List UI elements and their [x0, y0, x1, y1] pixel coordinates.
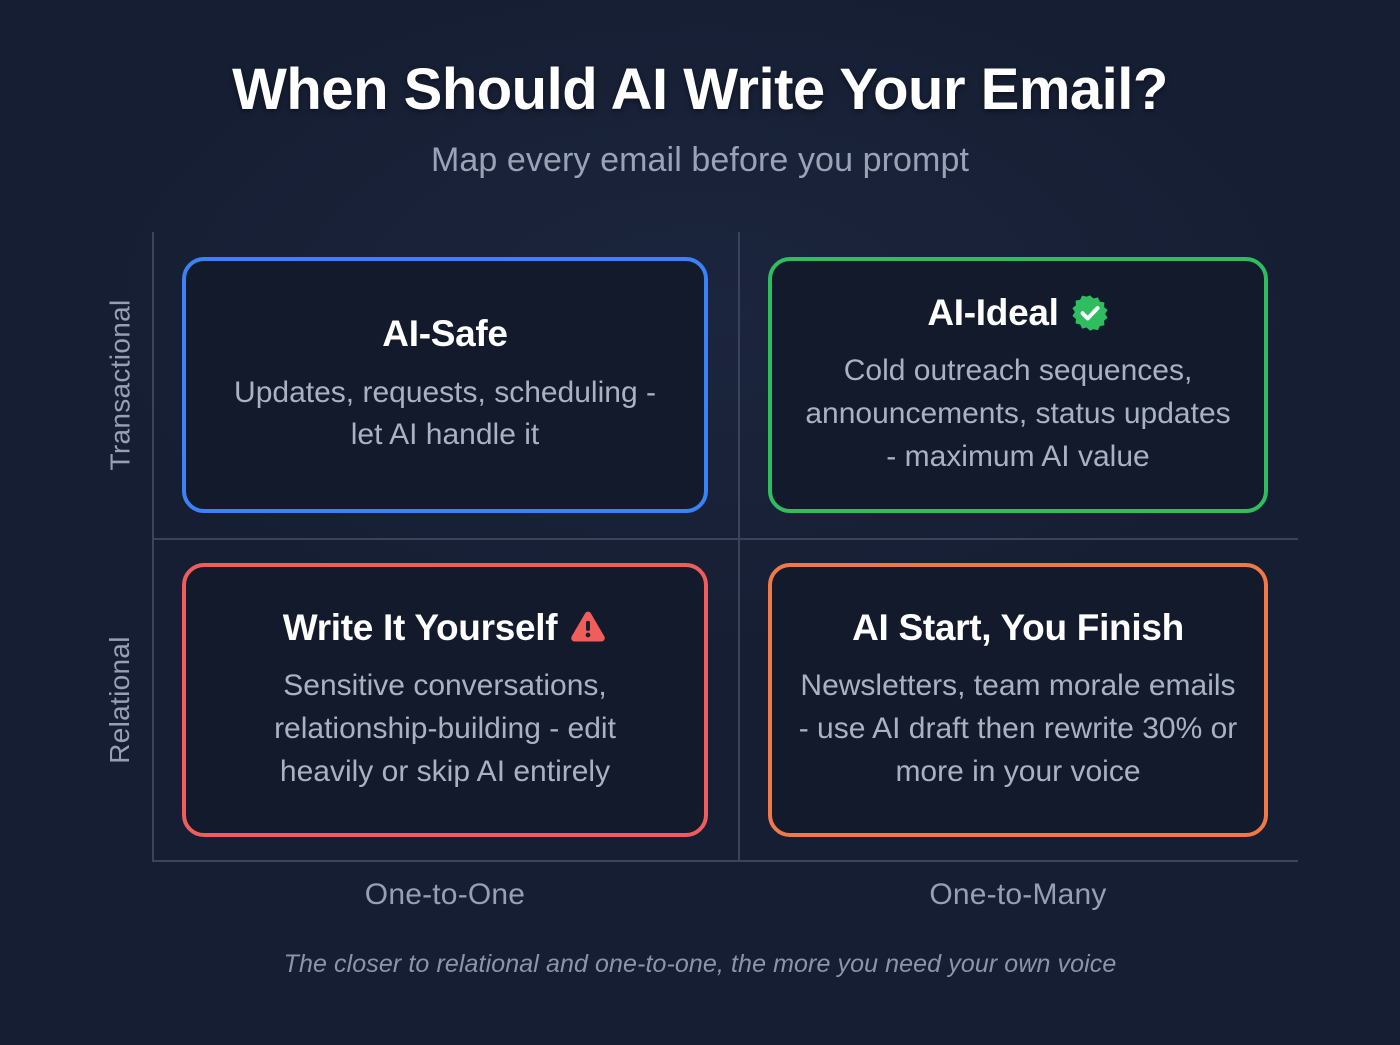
- quadrant-description-ai-safe: Updates, requests, scheduling - let AI h…: [230, 372, 660, 457]
- quadrant-description-ai-start-you-finish: Newsletters, team morale emails - use AI…: [798, 665, 1238, 793]
- quadrant-cell-top-left: AI-Safe Updates, requests, scheduling - …: [152, 232, 738, 538]
- quadrant-card-ai-ideal[interactable]: AI-Ideal Cold outreach sequences, announ…: [768, 257, 1268, 513]
- y-axis-label-relational: Relational: [88, 538, 152, 862]
- quadrant-title-write-it-yourself: Write It Yourself: [283, 607, 608, 650]
- header: When Should AI Write Your Email? Map eve…: [0, 60, 1400, 180]
- x-axis-label-one-to-one: One-to-One: [152, 878, 738, 912]
- quadrant-matrix: AI-Safe Updates, requests, scheduling - …: [152, 232, 1298, 862]
- quadrant-description-write-it-yourself: Sensitive conversations, relationship-bu…: [230, 665, 660, 793]
- quadrant-description-ai-ideal: Cold outreach sequences, announcements, …: [803, 350, 1233, 478]
- quadrant-card-ai-safe[interactable]: AI-Safe Updates, requests, scheduling - …: [182, 257, 708, 513]
- page-title: When Should AI Write Your Email?: [0, 60, 1400, 121]
- quadrant-title-ai-ideal: AI-Ideal: [927, 292, 1108, 335]
- warning-triangle-icon: [569, 610, 607, 646]
- infographic-canvas: When Should AI Write Your Email? Map eve…: [0, 0, 1400, 1045]
- x-axis-labels: One-to-One One-to-Many: [152, 878, 1298, 912]
- quadrant-cell-bottom-left: Write It Yourself Sensitive conversation…: [152, 538, 738, 862]
- quadrant-card-write-it-yourself[interactable]: Write It Yourself Sensitive conversation…: [182, 563, 708, 837]
- y-axis-label-transactional: Transactional: [88, 232, 152, 538]
- verified-badge-icon: [1071, 294, 1109, 332]
- quadrant-cell-top-right: AI-Ideal Cold outreach sequences, announ…: [738, 232, 1298, 538]
- y-axis-label-relational-text: Relational: [104, 636, 136, 764]
- quadrant-title-text: AI Start, You Finish: [852, 607, 1184, 650]
- page-subtitle: Map every email before you prompt: [0, 141, 1400, 180]
- footer-note: The closer to relational and one-to-one,…: [0, 950, 1400, 979]
- quadrant-card-ai-start-you-finish[interactable]: AI Start, You Finish Newsletters, team m…: [768, 563, 1268, 837]
- x-axis-label-one-to-many: One-to-Many: [738, 878, 1298, 912]
- quadrant-title-ai-start-you-finish: AI Start, You Finish: [852, 607, 1184, 650]
- quadrant-title-text: AI-Safe: [382, 313, 507, 356]
- quadrant-title-ai-safe: AI-Safe: [382, 313, 507, 356]
- quadrant-cell-bottom-right: AI Start, You Finish Newsletters, team m…: [738, 538, 1298, 862]
- quadrant-title-text: Write It Yourself: [283, 607, 558, 650]
- y-axis-label-transactional-text: Transactional: [104, 300, 136, 471]
- quadrant-title-text: AI-Ideal: [927, 292, 1058, 335]
